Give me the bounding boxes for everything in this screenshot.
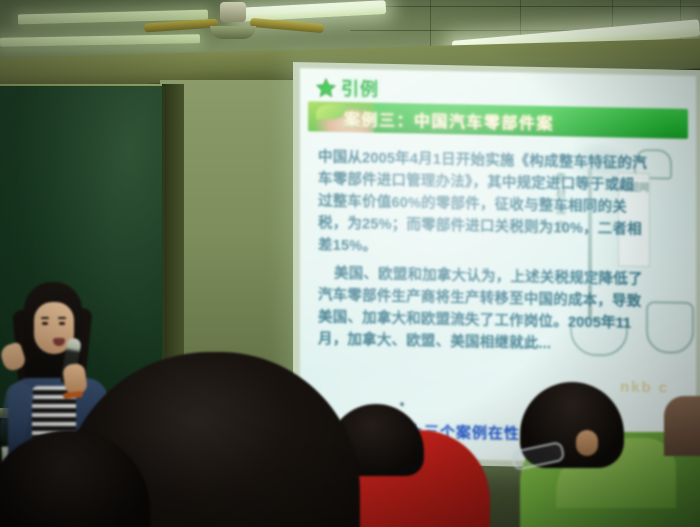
ceiling-fan <box>198 2 268 36</box>
student-ear <box>576 430 598 456</box>
powerpoint-slide: 素材图库 昵图网 nkb c 引例 案例三：中国汽车零部件案 <box>300 68 696 464</box>
classroom-photo: 素材图库 昵图网 nkb c 引例 案例三：中国汽车零部件案 <box>0 0 700 527</box>
slide-paragraph-1: 中国从2005年4月1日开始实施《构成整车特征的汽车零部件进口管理办法》，其中规… <box>318 147 648 264</box>
student-far-right <box>664 396 700 456</box>
presenter-mic-hand <box>62 363 88 396</box>
star-icon <box>316 77 336 97</box>
slide-body-text: 中国从2005年4月1日开始实施《构成整车特征的汽车零部件进口管理办法》，其中规… <box>318 147 648 364</box>
page-title: 引例 <box>341 75 379 102</box>
fluorescent-light <box>0 34 200 46</box>
slide-title-row: 引例 <box>316 74 379 101</box>
slide-banner: 案例三：中国汽车零部件案 <box>308 101 688 139</box>
slide-banner-title: 案例三：中国汽车零部件案 <box>344 106 684 137</box>
watermark-mark: nkb c <box>620 379 669 397</box>
slide-bullet <box>400 402 404 406</box>
slide-paragraph-2: 美国、欧盟和加拿大认为，上述关税规定降低了汽车零部件生产商将生产转移至中国的成本… <box>318 263 648 358</box>
